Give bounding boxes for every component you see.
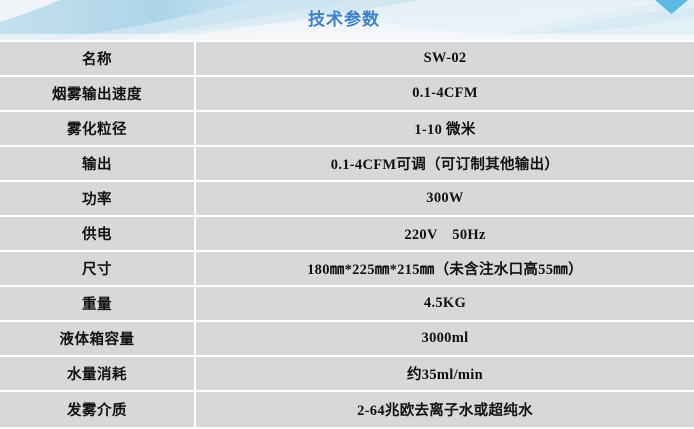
spec-label: 发雾介质 (0, 392, 196, 427)
table-row: 水量消耗 约35ml/min (0, 357, 694, 392)
table-row: 重量 4.5KG (0, 287, 694, 322)
spec-value: 180㎜*225㎜*215㎜（未含注水口高55㎜） (196, 252, 694, 287)
table-row: 烟雾输出速度 0.1-4CFM (0, 77, 694, 112)
page-banner: 技术参数 (0, 0, 694, 40)
table-row: 液体箱容量 3000ml (0, 322, 694, 357)
spec-label: 名称 (0, 42, 196, 77)
spec-table: 名称 SW-02 烟雾输出速度 0.1-4CFM 雾化粒径 1-10 微米 输出… (0, 42, 694, 427)
spec-value: 4.5KG (196, 287, 694, 322)
spec-label: 输出 (0, 147, 196, 182)
spec-label: 雾化粒径 (0, 112, 196, 147)
spec-value: SW-02 (196, 42, 694, 77)
table-row: 供电 220V 50Hz (0, 217, 694, 252)
table-row: 尺寸 180㎜*225㎜*215㎜（未含注水口高55㎜） (0, 252, 694, 287)
table-row: 输出 0.1-4CFM可调（可订制其他输出） (0, 147, 694, 182)
table-row: 雾化粒径 1-10 微米 (0, 112, 694, 147)
spec-value: 3000ml (196, 322, 694, 357)
spec-value: 0.1-4CFM可调（可订制其他输出） (196, 147, 694, 182)
product-spec-page: 技术参数 名称 SW-02 烟雾输出速度 0.1-4CFM 雾化粒径 1-10 … (0, 0, 694, 429)
spec-value: 1-10 微米 (196, 112, 694, 147)
spec-value: 300W (196, 182, 694, 217)
spec-value: 约35ml/min (196, 357, 694, 392)
spec-value: 0.1-4CFM (196, 77, 694, 112)
spec-label: 水量消耗 (0, 357, 196, 392)
spec-value: 220V 50Hz (196, 217, 694, 252)
spec-label: 烟雾输出速度 (0, 77, 196, 112)
spec-label: 供电 (0, 217, 196, 252)
spec-table-body: 名称 SW-02 烟雾输出速度 0.1-4CFM 雾化粒径 1-10 微米 输出… (0, 42, 694, 427)
table-row: 名称 SW-02 (0, 42, 694, 77)
table-row: 功率 300W (0, 182, 694, 217)
spec-label: 尺寸 (0, 252, 196, 287)
spec-value: 2-64兆欧去离子水或超纯水 (196, 392, 694, 427)
spec-label: 重量 (0, 287, 196, 322)
page-title: 技术参数 (0, 0, 694, 40)
spec-label: 液体箱容量 (0, 322, 196, 357)
spec-label: 功率 (0, 182, 196, 217)
table-row: 发雾介质 2-64兆欧去离子水或超纯水 (0, 392, 694, 427)
